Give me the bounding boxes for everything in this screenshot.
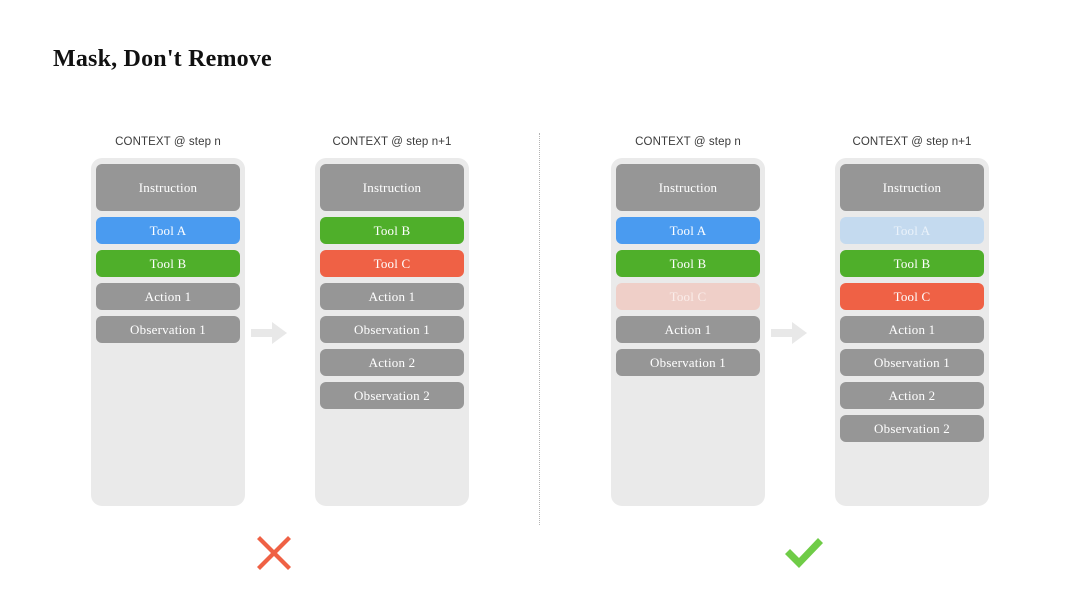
check-mark-icon [781, 530, 827, 576]
context-block[interactable]: Instruction [840, 164, 984, 211]
context-block[interactable]: Tool C [616, 283, 760, 310]
column-header: CONTEXT @ step n [91, 136, 245, 148]
context-block[interactable]: Tool B [840, 250, 984, 277]
context-block[interactable]: Action 1 [320, 283, 464, 310]
column-pair: CONTEXT @ step nInstructionTool ATool BA… [91, 136, 469, 506]
context-block[interactable]: Observation 2 [320, 382, 464, 409]
context-block[interactable]: Tool A [840, 217, 984, 244]
column-header: CONTEXT @ step n+1 [315, 136, 469, 148]
slide-canvas: Mask, Don't Remove CONTEXT @ step nInstr… [0, 0, 1080, 608]
context-block[interactable]: Instruction [616, 164, 760, 211]
context-column: CONTEXT @ step n+1InstructionTool ATool … [835, 136, 989, 506]
context-block[interactable]: Action 2 [840, 382, 984, 409]
context-block[interactable]: Action 1 [840, 316, 984, 343]
right-arrow-icon [771, 322, 807, 344]
diagram-group-remove-approach: CONTEXT @ step nInstructionTool ATool BA… [91, 136, 469, 506]
context-block[interactable]: Action 2 [320, 349, 464, 376]
cross-mark-icon [251, 530, 297, 576]
column-header: CONTEXT @ step n [611, 136, 765, 148]
context-panel: InstructionTool ATool BTool CAction 1Obs… [835, 158, 989, 506]
section-divider [539, 133, 540, 525]
context-block[interactable]: Observation 1 [320, 316, 464, 343]
column-header: CONTEXT @ step n+1 [835, 136, 989, 148]
column-pair: CONTEXT @ step nInstructionTool ATool BT… [611, 136, 989, 506]
context-block[interactable]: Action 1 [616, 316, 760, 343]
context-panel: InstructionTool BTool CAction 1Observati… [315, 158, 469, 506]
context-block[interactable]: Tool B [320, 217, 464, 244]
right-arrow-icon [251, 322, 287, 344]
context-block[interactable]: Instruction [96, 164, 240, 211]
page-title: Mask, Don't Remove [53, 46, 272, 73]
context-block[interactable]: Tool B [96, 250, 240, 277]
context-block[interactable]: Observation 1 [840, 349, 984, 376]
diagram-group-mask-approach: CONTEXT @ step nInstructionTool ATool BT… [611, 136, 989, 506]
context-block[interactable]: Action 1 [96, 283, 240, 310]
context-block[interactable]: Observation 1 [96, 316, 240, 343]
context-block[interactable]: Observation 1 [616, 349, 760, 376]
context-column: CONTEXT @ step nInstructionTool ATool BA… [91, 136, 245, 506]
context-column: CONTEXT @ step n+1InstructionTool BTool … [315, 136, 469, 506]
context-block[interactable]: Tool A [616, 217, 760, 244]
context-panel: InstructionTool ATool BTool CAction 1Obs… [611, 158, 765, 506]
context-block[interactable]: Tool C [320, 250, 464, 277]
context-block[interactable]: Tool A [96, 217, 240, 244]
context-panel: InstructionTool ATool BAction 1Observati… [91, 158, 245, 506]
context-block[interactable]: Instruction [320, 164, 464, 211]
context-block[interactable]: Observation 2 [840, 415, 984, 442]
context-column: CONTEXT @ step nInstructionTool ATool BT… [611, 136, 765, 506]
context-block[interactable]: Tool B [616, 250, 760, 277]
context-block[interactable]: Tool C [840, 283, 984, 310]
